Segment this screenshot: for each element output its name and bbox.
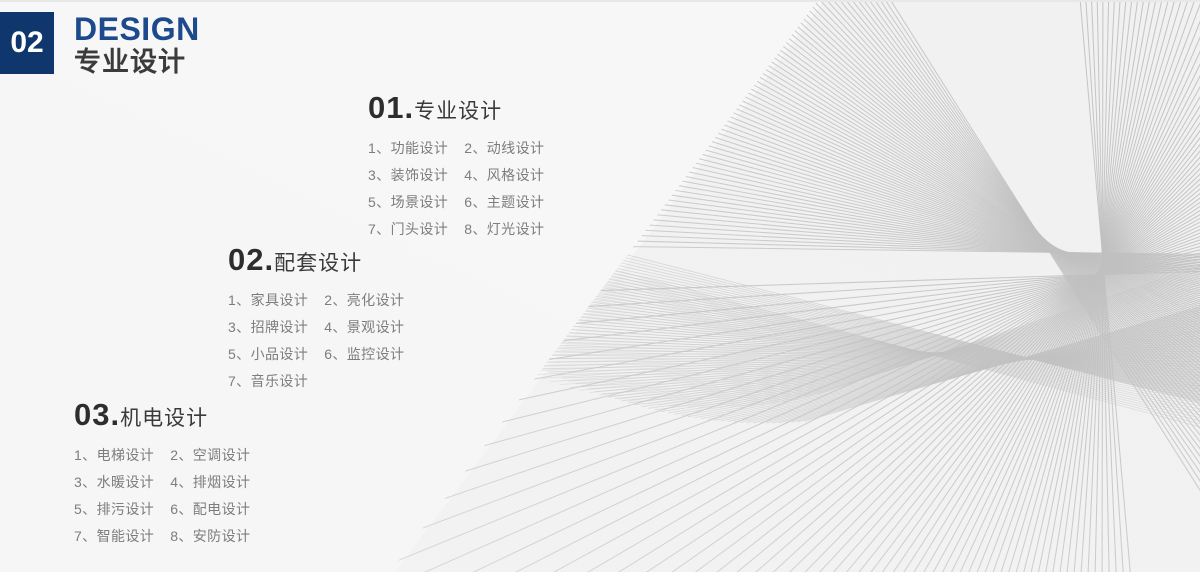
page-title-english: DESIGN xyxy=(74,13,200,45)
slide-header: 02 DESIGN 专业设计 xyxy=(0,0,200,78)
list-item: 2、空调设计 xyxy=(170,443,250,467)
list-item: 5、场景设计 xyxy=(368,190,448,214)
list-item: 1、电梯设计 xyxy=(74,443,154,467)
list-item: 8、灯光设计 xyxy=(464,217,544,241)
list-item: 5、小品设计 xyxy=(228,342,308,366)
list-item: 3、装饰设计 xyxy=(368,163,448,187)
block-01-name: 专业设计 xyxy=(414,100,502,123)
list-item: 4、景观设计 xyxy=(324,315,404,339)
list-item: 7、门头设计 xyxy=(368,217,448,241)
block-02-name: 配套设计 xyxy=(274,252,362,275)
content-block-02: 02.配套设计 1、家具设计 2、亮化设计 3、招牌设计 4、景观设计 5、小品… xyxy=(228,242,404,393)
block-02-number: 02. xyxy=(228,242,274,277)
block-02-heading: 02.配套设计 xyxy=(228,242,404,278)
list-item: 3、招牌设计 xyxy=(228,315,308,339)
list-item: 4、风格设计 xyxy=(464,163,544,187)
block-01-item-list: 1、功能设计 2、动线设计 3、装饰设计 4、风格设计 5、场景设计 6、主题设… xyxy=(368,136,544,241)
list-item: 6、监控设计 xyxy=(324,342,404,366)
list-item: 1、家具设计 xyxy=(228,288,308,312)
list-item: 2、亮化设计 xyxy=(324,288,404,312)
list-item: 4、排烟设计 xyxy=(170,470,250,494)
section-number-badge: 02 xyxy=(0,12,54,74)
header-title-group: DESIGN 专业设计 xyxy=(74,13,200,78)
content-block-03: 03.机电设计 1、电梯设计 2、空调设计 3、水暖设计 4、排烟设计 5、排污… xyxy=(74,397,250,548)
block-03-item-list: 1、电梯设计 2、空调设计 3、水暖设计 4、排烟设计 5、排污设计 6、配电设… xyxy=(74,443,250,548)
list-item: 1、功能设计 xyxy=(368,136,448,160)
block-03-number: 03. xyxy=(74,397,120,432)
list-item: 2、动线设计 xyxy=(464,136,544,160)
block-02-item-list: 1、家具设计 2、亮化设计 3、招牌设计 4、景观设计 5、小品设计 6、监控设… xyxy=(228,288,404,393)
content-block-01: 01.专业设计 1、功能设计 2、动线设计 3、装饰设计 4、风格设计 5、场景… xyxy=(368,90,544,241)
block-01-heading: 01.专业设计 xyxy=(368,90,544,126)
block-03-name: 机电设计 xyxy=(120,407,208,430)
block-01-number: 01. xyxy=(368,90,414,125)
block-03-heading: 03.机电设计 xyxy=(74,397,250,433)
list-item: 3、水暖设计 xyxy=(74,470,154,494)
list-item: 7、智能设计 xyxy=(74,524,154,548)
list-item: 7、音乐设计 xyxy=(228,369,308,393)
list-item: 6、配电设计 xyxy=(170,497,250,521)
slide-canvas: 02 DESIGN 专业设计 01.专业设计 1、功能设计 2、动线设计 3、装… xyxy=(0,0,1200,572)
page-title-chinese: 专业设计 xyxy=(74,47,200,78)
list-item: 5、排污设计 xyxy=(74,497,154,521)
list-item: 8、安防设计 xyxy=(170,524,250,548)
list-item: 6、主题设计 xyxy=(464,190,544,214)
